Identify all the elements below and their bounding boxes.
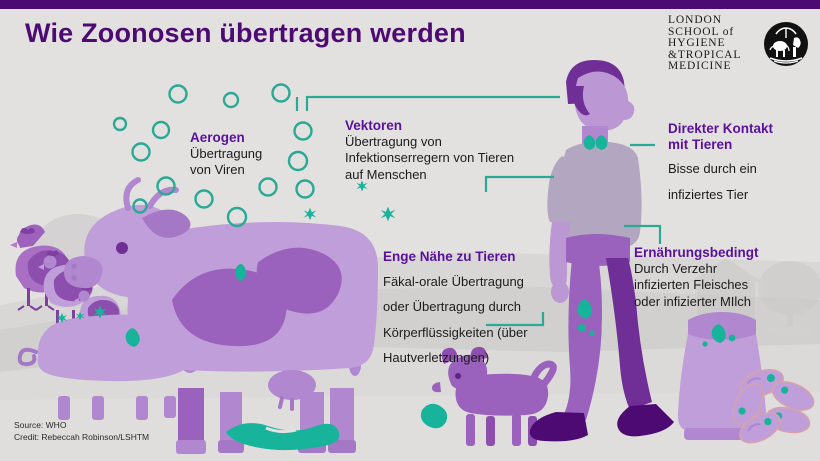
- page-title: Wie Zoonosen übertragen werden: [25, 18, 466, 49]
- credits-source: Source: WHO: [14, 419, 149, 431]
- logo-line-5: MEDICINE: [668, 61, 760, 73]
- label-direkter-kontakt-body-1: Bisse durch ein: [668, 161, 773, 178]
- credits-author: Credit: Rebeccah Robinson/LSHTM: [14, 431, 149, 443]
- lshtm-logo: LONDON SCHOOL of HYGIENE &TROPICAL MEDIC…: [668, 13, 810, 75]
- label-vektoren-body-1: Übertragung von: [345, 134, 514, 151]
- top-accent-bar: [0, 0, 820, 9]
- label-enge-naehe: Enge Nähe zu Tieren Fäkal-orale Übertrag…: [383, 249, 528, 367]
- label-vektoren: Vektoren Übertragung von Infektionserreg…: [345, 118, 514, 183]
- label-ernaehrungsbedingt-heading: Ernährungsbedingt: [634, 245, 759, 261]
- label-ernaehrungsbedingt-body-2: infizierten Fleisches: [634, 277, 759, 294]
- label-vektoren-heading: Vektoren: [345, 118, 514, 134]
- logo-line-1: LONDON: [668, 15, 760, 27]
- label-vektoren-body-2: Infektionserregern von Tieren: [345, 150, 514, 167]
- label-direkter-kontakt-heading-1: Direkter Kontakt: [668, 121, 773, 137]
- circular-crest-icon: [762, 20, 810, 68]
- credits-block: Source: WHO Credit: Rebeccah Robinson/LS…: [14, 419, 149, 443]
- infographic-canvas: Wie Zoonosen übertragen werden LONDON SC…: [0, 0, 820, 461]
- label-enge-naehe-heading: Enge Nähe zu Tieren: [383, 249, 528, 265]
- label-direkter-kontakt-heading-2: mit Tieren: [668, 137, 773, 153]
- label-enge-naehe-body-3: Körperflüssigkeiten (über: [383, 325, 528, 342]
- label-direkter-kontakt: Direkter Kontakt mit Tieren Bisse durch …: [668, 121, 773, 203]
- label-aerogen-heading: Aerogen: [190, 130, 262, 146]
- label-direkter-kontakt-body-2: infiziertes Tier: [668, 187, 773, 204]
- label-enge-naehe-body-1: Fäkal-orale Übertragung: [383, 274, 528, 291]
- label-enge-naehe-body-4: Hautverletzungen): [383, 350, 528, 367]
- label-enge-naehe-body-2: oder Übertragung durch: [383, 299, 528, 316]
- label-aerogen-body-1: Übertragung: [190, 146, 262, 163]
- label-vektoren-body-3: auf Menschen: [345, 167, 514, 184]
- label-ernaehrungsbedingt-body-3: oder infizierter MIlch: [634, 294, 759, 311]
- label-ernaehrungsbedingt-body-1: Durch Verzehr: [634, 261, 759, 278]
- label-ernaehrungsbedingt: Ernährungsbedingt Durch Verzehr infizier…: [634, 245, 759, 310]
- label-aerogen-body-2: von Viren: [190, 162, 262, 179]
- label-aerogen: Aerogen Übertragung von Viren: [190, 130, 262, 179]
- logo-wordmark: LONDON SCHOOL of HYGIENE &TROPICAL MEDIC…: [668, 15, 760, 73]
